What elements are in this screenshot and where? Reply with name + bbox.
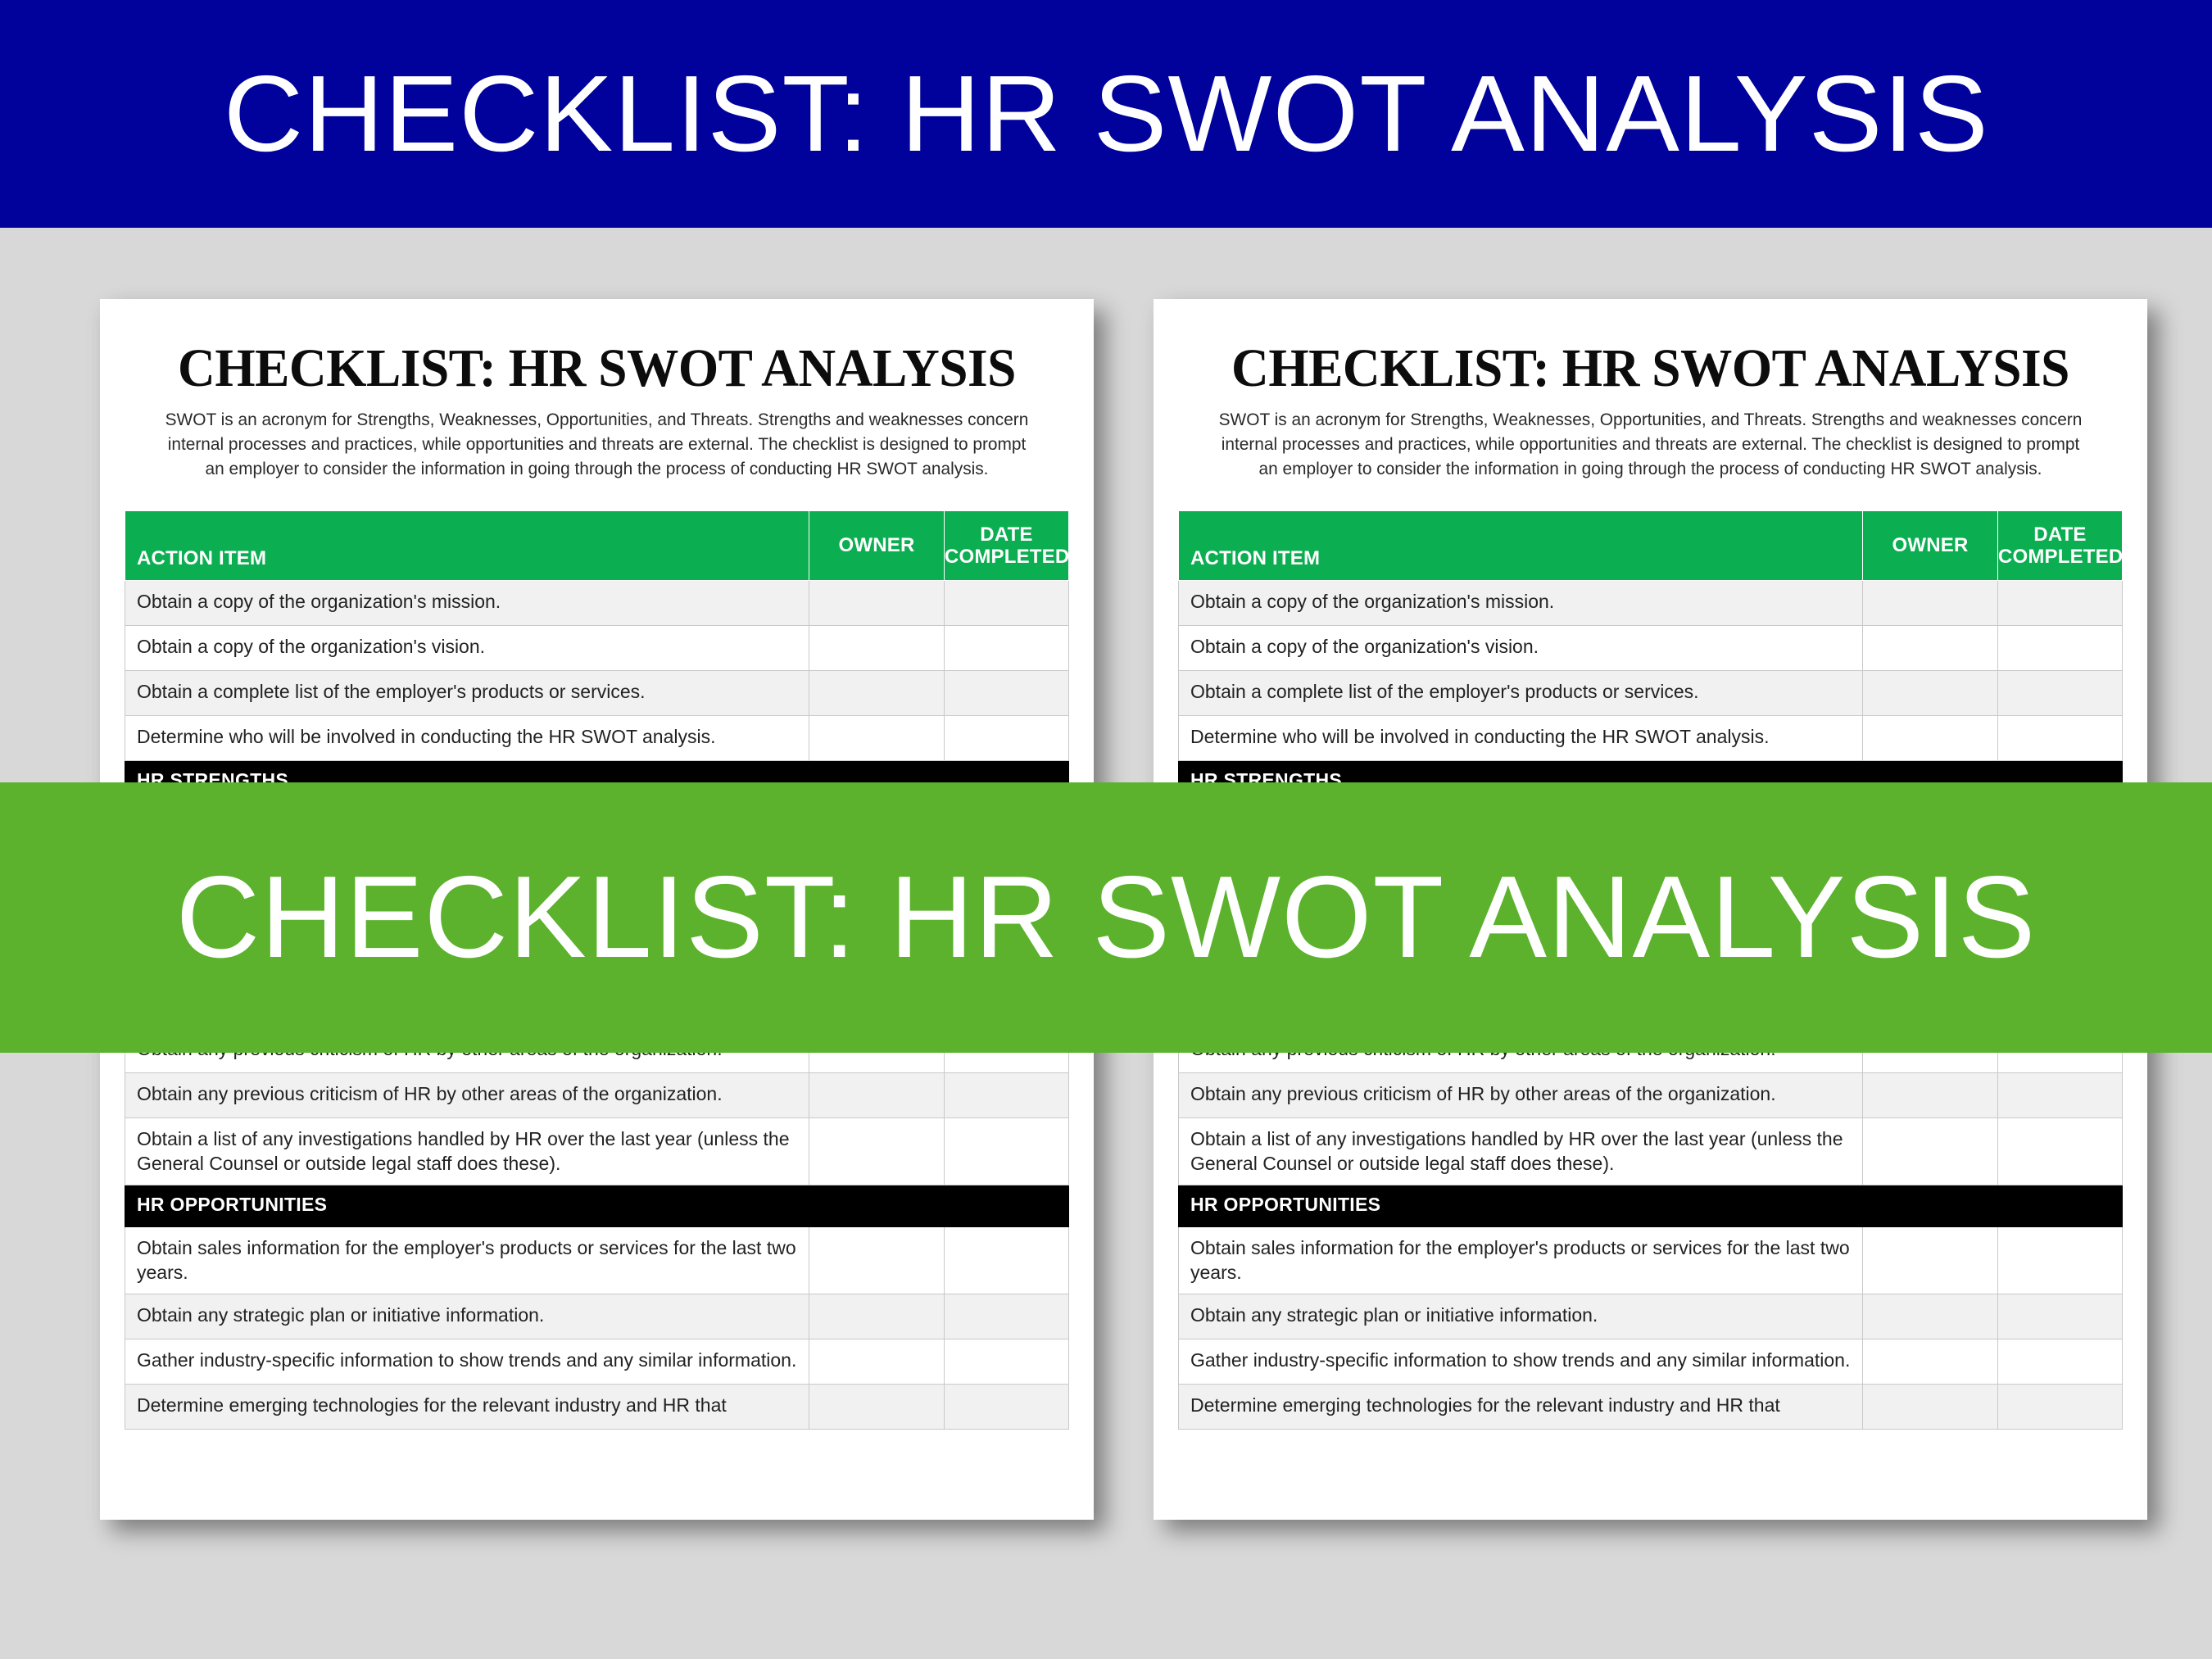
date-completed-cell[interactable] — [944, 1073, 1068, 1118]
date-completed-cell[interactable] — [1997, 716, 2122, 761]
action-item-cell: Obtain a list of any investigations hand… — [125, 1118, 809, 1185]
section-header-row-hr-opportunities: HR OPPORTUNITIES — [1179, 1185, 2123, 1227]
table-row[interactable]: Obtain sales information for the employe… — [125, 1227, 1069, 1294]
table-row[interactable]: Determine emerging technologies for the … — [1179, 1385, 2123, 1430]
action-item-cell: Obtain sales information for the employe… — [1179, 1227, 1863, 1294]
table-row[interactable]: Obtain sales information for the employe… — [1179, 1227, 2123, 1294]
date-completed-cell[interactable] — [944, 1118, 1068, 1185]
date-completed-cell[interactable] — [944, 716, 1068, 761]
owner-cell[interactable] — [1863, 1339, 1998, 1385]
table-row[interactable]: Obtain any previous criticism of HR by o… — [125, 1073, 1069, 1118]
date-completed-cell[interactable] — [1997, 671, 2122, 716]
table-row[interactable]: Determine who will be involved in conduc… — [125, 716, 1069, 761]
action-item-cell: Determine who will be involved in conduc… — [125, 716, 809, 761]
owner-cell[interactable] — [809, 1227, 945, 1294]
action-item-cell: Obtain any strategic plan or initiative … — [1179, 1294, 1863, 1339]
document-title: CHECKLIST: HR SWOT ANALYSIS — [1197, 340, 2104, 397]
date-completed-line2: COMPLETED — [1998, 546, 2123, 568]
owner-cell[interactable] — [1863, 581, 1998, 626]
date-completed-cell[interactable] — [1997, 1227, 2122, 1294]
owner-cell[interactable] — [1863, 626, 1998, 671]
date-completed-line2: COMPLETED — [945, 546, 1069, 568]
table-row[interactable]: Obtain a list of any investigations hand… — [1179, 1118, 2123, 1185]
action-item-cell: Obtain a copy of the organization's visi… — [125, 626, 809, 671]
middle-banner-title-text: CHECKLIST: HR SWOT ANALYSIS — [176, 856, 2037, 978]
table-row[interactable]: Gather industry-specific information to … — [1179, 1339, 2123, 1385]
owner-cell[interactable] — [809, 1339, 945, 1385]
column-header-date-completed: DATE COMPLETED — [1997, 511, 2122, 581]
column-header-owner: OWNER — [809, 511, 945, 581]
owner-cell[interactable] — [809, 671, 945, 716]
date-completed-cell[interactable] — [1997, 581, 2122, 626]
table-header-row: ACTION ITEM OWNER DATE COMPLETED — [1179, 511, 2123, 581]
action-item-cell: Determine emerging technologies for the … — [1179, 1385, 1863, 1430]
date-completed-cell[interactable] — [944, 671, 1068, 716]
owner-cell[interactable] — [1863, 1385, 1998, 1430]
date-completed-line1: DATE — [2033, 524, 2086, 546]
owner-cell[interactable] — [809, 1385, 945, 1430]
date-completed-cell[interactable] — [1997, 1073, 2122, 1118]
date-completed-cell[interactable] — [1997, 1339, 2122, 1385]
owner-cell[interactable] — [1863, 1227, 1998, 1294]
table-row[interactable]: Obtain any strategic plan or initiative … — [1179, 1294, 2123, 1339]
section-title: HR OPPORTUNITIES — [1179, 1185, 1863, 1227]
owner-cell[interactable] — [1863, 1294, 1998, 1339]
action-item-cell: Obtain sales information for the employe… — [125, 1227, 809, 1294]
table-row[interactable]: Determine emerging technologies for the … — [125, 1385, 1069, 1430]
date-completed-cell[interactable] — [944, 1385, 1068, 1430]
column-header-owner: OWNER — [1863, 511, 1998, 581]
action-item-cell: Gather industry-specific information to … — [125, 1339, 809, 1385]
table-row[interactable]: Obtain a list of any investigations hand… — [125, 1118, 1069, 1185]
top-banner-title-text: CHECKLIST: HR SWOT ANALYSIS — [224, 57, 1989, 171]
date-completed-cell[interactable] — [944, 626, 1068, 671]
action-item-cell: Obtain a copy of the organization's miss… — [125, 581, 809, 626]
table-row[interactable]: Obtain any strategic plan or initiative … — [125, 1294, 1069, 1339]
owner-cell[interactable] — [1863, 671, 1998, 716]
table-row[interactable]: Obtain a copy of the organization's visi… — [125, 626, 1069, 671]
date-completed-cell[interactable] — [1997, 1294, 2122, 1339]
owner-cell[interactable] — [809, 1073, 945, 1118]
date-completed-cell[interactable] — [944, 581, 1068, 626]
document-title: CHECKLIST: HR SWOT ANALYSIS — [143, 340, 1050, 397]
date-completed-cell[interactable] — [1997, 1118, 2122, 1185]
document-intro-paragraph: SWOT is an acronym for Strengths, Weakne… — [156, 408, 1038, 481]
date-completed-line1: DATE — [980, 524, 1032, 546]
table-row[interactable]: Determine who will be involved in conduc… — [1179, 716, 2123, 761]
table-row[interactable]: Gather industry-specific information to … — [125, 1339, 1069, 1385]
section-date-cell — [944, 1185, 1068, 1227]
section-date-cell — [1997, 1185, 2122, 1227]
action-item-cell: Obtain a list of any investigations hand… — [1179, 1118, 1863, 1185]
owner-cell[interactable] — [809, 626, 945, 671]
owner-cell[interactable] — [809, 716, 945, 761]
table-row[interactable]: Obtain a copy of the organization's miss… — [125, 581, 1069, 626]
action-item-cell: Obtain any previous criticism of HR by o… — [1179, 1073, 1863, 1118]
date-completed-cell[interactable] — [1997, 626, 2122, 671]
action-item-cell: Obtain a copy of the organization's miss… — [1179, 581, 1863, 626]
action-item-cell: Obtain any strategic plan or initiative … — [125, 1294, 809, 1339]
table-row[interactable]: Obtain any previous criticism of HR by o… — [1179, 1073, 2123, 1118]
owner-cell[interactable] — [809, 1118, 945, 1185]
date-completed-cell[interactable] — [944, 1227, 1068, 1294]
action-item-cell: Gather industry-specific information to … — [1179, 1339, 1863, 1385]
table-row[interactable]: Obtain a complete list of the employer's… — [125, 671, 1069, 716]
date-completed-cell[interactable] — [944, 1294, 1068, 1339]
action-item-cell: Obtain a copy of the organization's visi… — [1179, 626, 1863, 671]
table-row[interactable]: Obtain a complete list of the employer's… — [1179, 671, 2123, 716]
date-completed-cell[interactable] — [944, 1339, 1068, 1385]
action-item-cell: Obtain any previous criticism of HR by o… — [125, 1073, 809, 1118]
action-item-cell: Obtain a complete list of the employer's… — [1179, 671, 1863, 716]
owner-cell[interactable] — [1863, 716, 1998, 761]
document-intro-paragraph: SWOT is an acronym for Strengths, Weakne… — [1210, 408, 2092, 481]
owner-cell[interactable] — [1863, 1073, 1998, 1118]
section-header-row-hr-opportunities: HR OPPORTUNITIES — [125, 1185, 1069, 1227]
top-title-banner: CHECKLIST: HR SWOT ANALYSIS — [0, 0, 2212, 228]
action-item-cell: Determine who will be involved in conduc… — [1179, 716, 1863, 761]
table-row[interactable]: Obtain a copy of the organization's visi… — [1179, 626, 2123, 671]
owner-cell[interactable] — [809, 1294, 945, 1339]
table-header-row: ACTION ITEM OWNER DATE COMPLETED — [125, 511, 1069, 581]
owner-cell[interactable] — [1863, 1118, 1998, 1185]
middle-title-banner: CHECKLIST: HR SWOT ANALYSIS — [0, 782, 2212, 1053]
section-owner-cell — [1863, 1185, 1998, 1227]
section-owner-cell — [809, 1185, 945, 1227]
action-item-cell: Determine emerging technologies for the … — [125, 1385, 809, 1430]
action-item-cell: Obtain a complete list of the employer's… — [125, 671, 809, 716]
column-header-action-item: ACTION ITEM — [125, 511, 809, 581]
section-title: HR OPPORTUNITIES — [125, 1185, 809, 1227]
column-header-date-completed: DATE COMPLETED — [944, 511, 1068, 581]
owner-cell[interactable] — [809, 581, 945, 626]
date-completed-cell[interactable] — [1997, 1385, 2122, 1430]
table-row[interactable]: Obtain a copy of the organization's miss… — [1179, 581, 2123, 626]
column-header-action-item: ACTION ITEM — [1179, 511, 1863, 581]
